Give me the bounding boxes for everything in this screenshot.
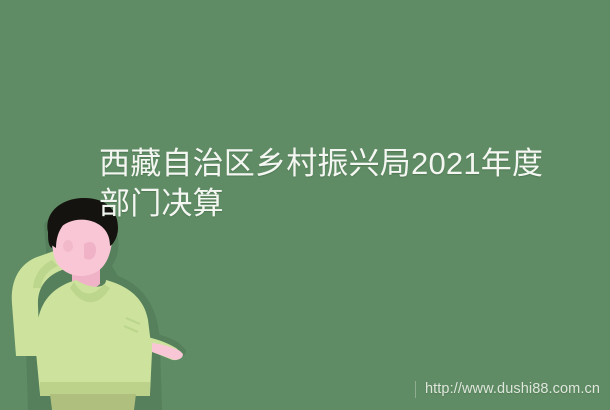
person-illustration-svg (0, 196, 200, 410)
watermark: http://www.dushi88.com.cn (415, 381, 600, 398)
page-title: 西藏自治区乡村振兴局2021年度部门决算 (99, 144, 559, 224)
watermark-divider (415, 381, 416, 398)
watermark-url: http://www.dushi88.com.cn (425, 381, 600, 398)
person-illustration (0, 196, 200, 410)
nose (63, 240, 73, 252)
image-canvas: 西藏自治区乡村振兴局2021年度部门决算 http://www.dushi88.… (0, 0, 610, 410)
sweater-hem (40, 382, 150, 396)
pants (50, 394, 136, 410)
